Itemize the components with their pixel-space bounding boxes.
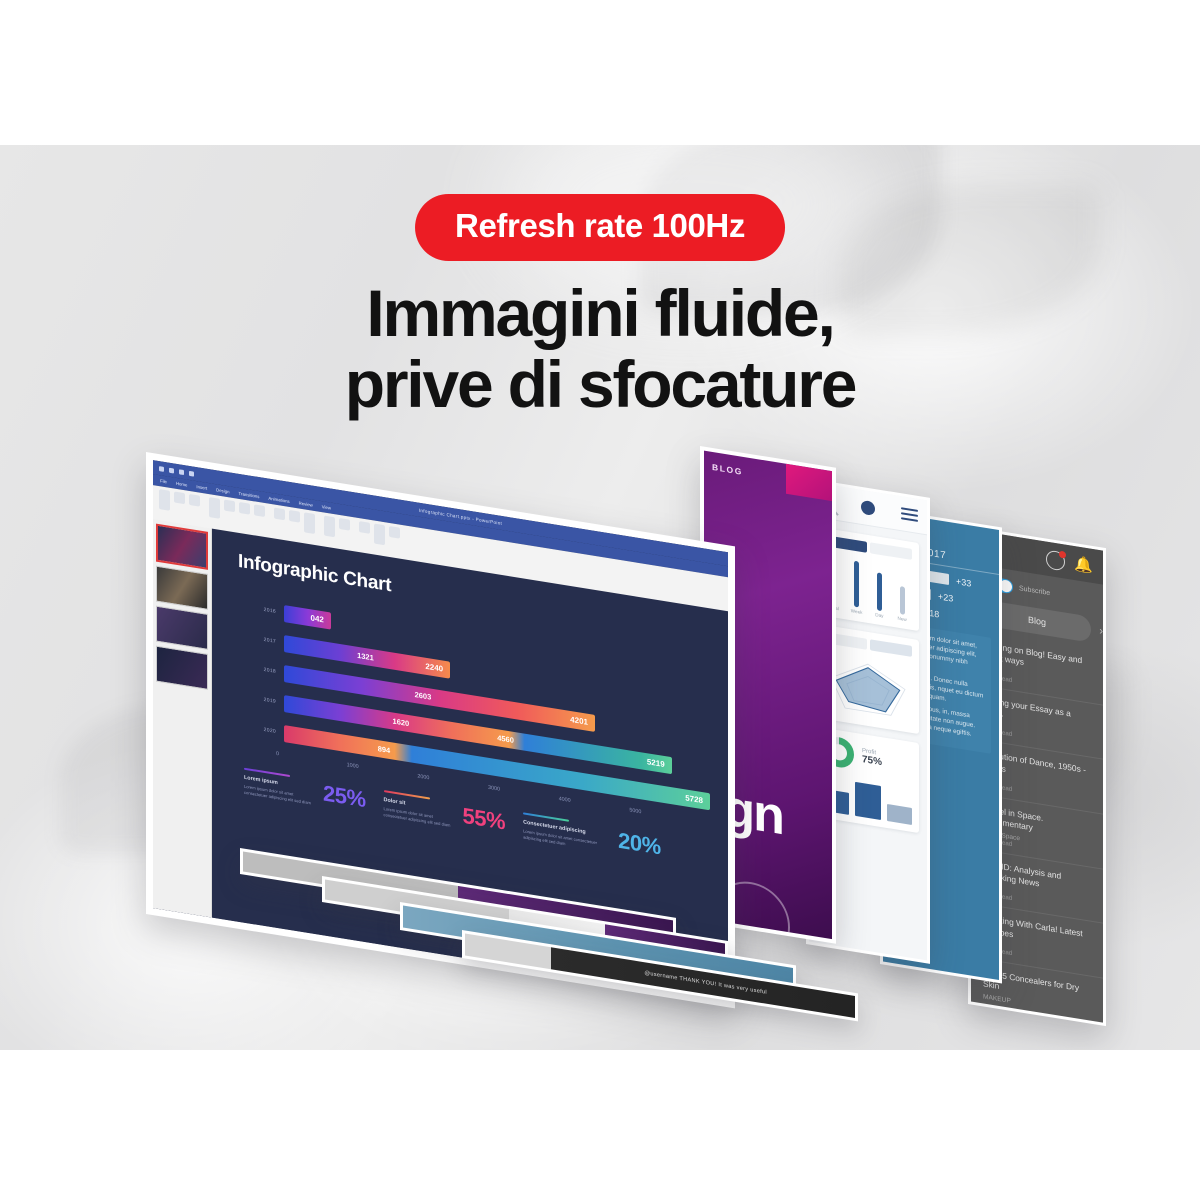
tab-insert[interactable]: Insert [196,484,207,491]
tab-transitions[interactable]: Transitions [239,491,260,499]
letterbox-bottom [0,1050,1200,1200]
slide-thumbnail[interactable] [156,566,208,610]
stat-item: Consectetuer adipiscing Lorem ipsum dolo… [523,812,661,862]
bar-label: Day [875,612,883,618]
bar-value: 5728 [685,793,703,805]
x-tick: 1000 [347,762,418,779]
page-headline: Immagini fluide, prive di sfocature [0,278,1200,419]
x-tick: 3000 [488,785,559,802]
nav-item-blog[interactable]: BLOG [712,462,743,477]
headline-line-2: prive di sfocature [0,349,1200,420]
tab-view[interactable]: View [322,504,331,510]
bar-category-label: 2019 [236,692,284,706]
bar-mid-value: 4560 [497,733,514,745]
tab-file[interactable]: File [160,478,167,484]
promo-screenshot: Refresh rate 100Hz Immagini fluide, priv… [0,0,1200,1200]
tab-design[interactable]: Design [216,487,229,494]
bar-inner-value: 2603 [415,690,432,702]
stat-value: 25% [323,780,366,813]
bar-inner-value: 894 [378,744,391,755]
bar-chart: Total Week Day New [824,553,912,623]
mini-bar-chart [824,773,912,825]
tab-animations[interactable]: Animations [268,496,289,504]
window-stack: 🔔 Subscribe Blog › Starting on Blog! Eas… [0,430,1200,1050]
bar-inner-value: 1620 [393,716,410,728]
bar-value: 4201 [570,714,588,726]
stat-item: Lorem ipsum Lorem ipsum dolor sit amet c… [244,768,366,816]
bar-label: Week [851,608,863,615]
bar-category-label: 2020 [236,722,284,736]
stat-item: Dolor sit Lorem ipsum dolor sit amet con… [384,790,506,838]
headline-line-1: Immagini fluide, [0,278,1200,349]
slide-thumbnail-panel[interactable] [153,519,212,917]
slide-thumbnail[interactable] [156,524,208,570]
tab-review[interactable]: Review [299,500,313,507]
refresh-rate-badge: Refresh rate 100Hz [415,194,785,261]
radar-chart [824,650,912,726]
bar-value: 042 [311,613,324,624]
letterbox-top [0,0,1200,145]
bar-inner-value: 1321 [357,650,374,662]
tab-stock[interactable] [870,639,913,657]
stat-value: 20% [618,828,661,861]
x-tick: 4000 [559,796,630,813]
tab-stats[interactable] [870,542,913,560]
bar-category-label: 2016 [236,602,284,616]
bar-category-label: 2018 [236,662,284,676]
profit-value: 75% [862,753,882,767]
slide-thumbnail[interactable] [156,646,208,690]
slide-thumbnail[interactable] [156,606,208,650]
purple-nav[interactable]: BLOG [704,451,832,492]
tab-home[interactable]: Home [176,481,187,488]
bar-category-label: 2017 [236,632,284,646]
stat-value: 55% [463,803,506,836]
message-icon[interactable] [1046,549,1065,571]
bar-value: 2240 [425,661,443,673]
radar-svg [824,650,912,726]
chevron-right-icon[interactable]: › [1099,625,1103,638]
profile-icon[interactable] [861,500,875,516]
hamburger-menu-icon[interactable] [901,507,918,522]
bell-icon[interactable]: 🔔 [1074,556,1093,574]
x-tick: 5000 [629,807,700,824]
subscribe-label: Subscribe [1019,585,1050,597]
x-tick: 2000 [417,773,488,790]
blog-pill-label: Blog [1028,615,1046,628]
bar-value: 5219 [647,757,665,769]
bar-label: New [898,616,907,622]
x-tick: 0 [276,751,347,768]
